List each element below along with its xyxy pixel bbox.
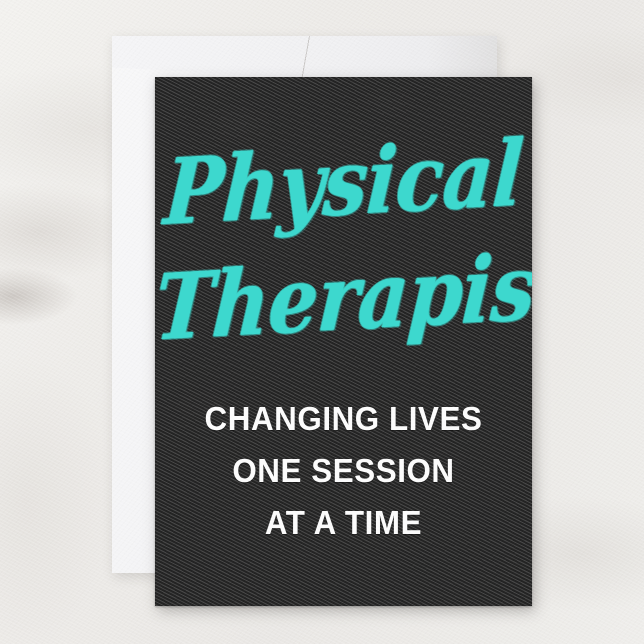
script-headline-line-2-wrapper: Therapist (155, 260, 532, 338)
script-headline-line-1: Physical (155, 128, 532, 239)
tagline-line-1: CHANGING LIVES (164, 393, 522, 445)
tagline-block: CHANGING LIVES ONE SESSION AT A TIME (155, 393, 532, 549)
card-content: Physical Therapist CHANGING LIVES ONE SE… (155, 77, 532, 606)
script-headline-line-2: Therapist (155, 243, 532, 354)
tagline-line-3: AT A TIME (164, 497, 522, 549)
tagline-line-2: ONE SESSION (164, 445, 522, 497)
script-headline-line-1-wrapper: Physical (155, 145, 532, 223)
scene-backdrop: Physical Therapist CHANGING LIVES ONE SE… (0, 0, 644, 644)
greeting-card: Physical Therapist CHANGING LIVES ONE SE… (155, 77, 532, 606)
